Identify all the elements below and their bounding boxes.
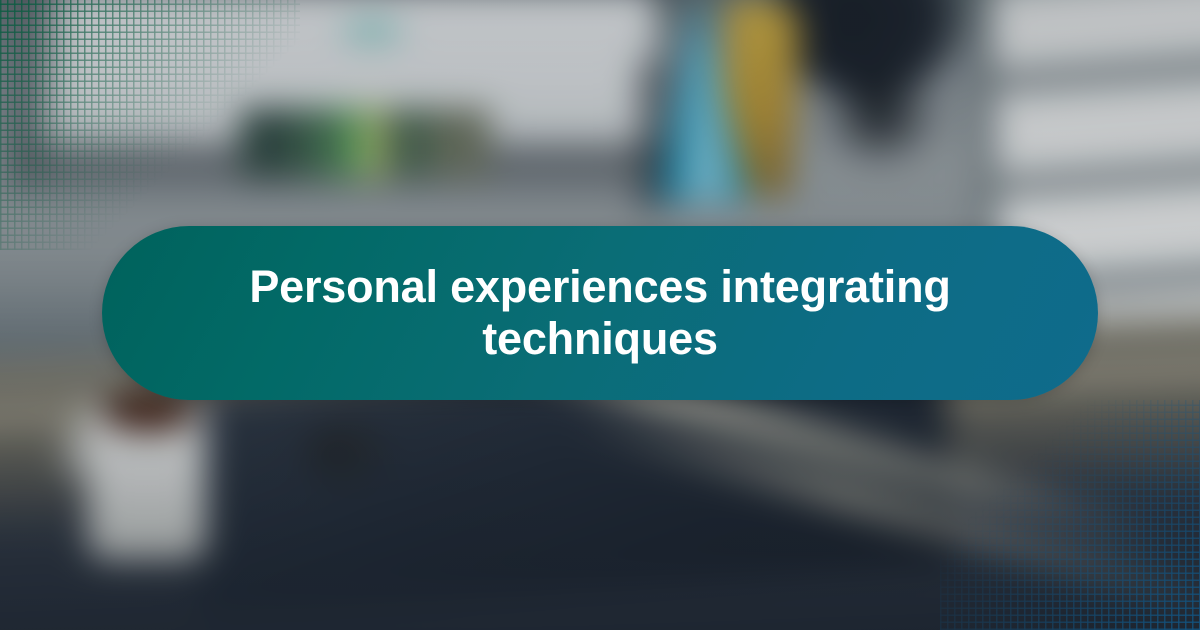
title-pill: Personal experiences integrating techniq…: [102, 226, 1098, 400]
teal-cone-shadow: [640, 60, 680, 210]
banner-card: Personal experiences integrating techniq…: [0, 0, 1200, 630]
sticky-note: [346, 22, 398, 40]
lens-object: [314, 432, 360, 466]
books-row: [240, 108, 490, 178]
teal-cone-highlight: [692, 0, 724, 198]
dark-object-lower: [820, 60, 940, 170]
page-title: Personal experiences integrating techniq…: [150, 261, 1050, 365]
